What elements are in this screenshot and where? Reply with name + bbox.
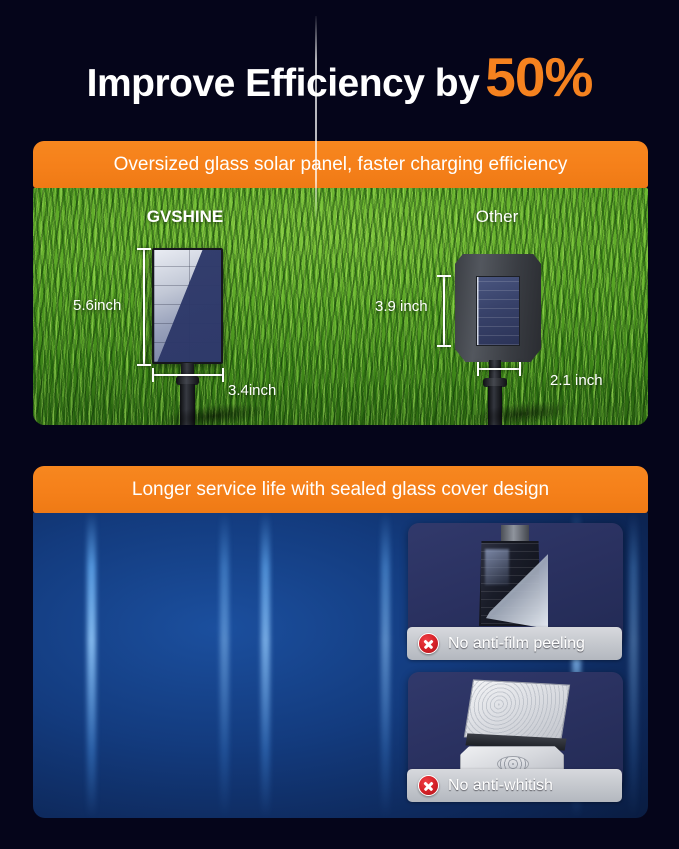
- theirs-height-dimension-label: 3.9 inch: [375, 298, 428, 315]
- ours-width-rule: [152, 374, 224, 376]
- inset-label-row: No anti-film peeling: [407, 627, 622, 660]
- ours-brand-label: GVSHINE: [133, 207, 237, 227]
- grass-background: [33, 188, 648, 425]
- light-streak: [261, 512, 270, 818]
- ours-width-cap-right: [222, 368, 224, 382]
- light-streak: [220, 512, 229, 818]
- inset-card-anti-film-peeling: No anti-film peeling: [408, 523, 623, 648]
- inset-label-text: No anti-whitish: [448, 777, 553, 795]
- theirs-width-rule: [477, 368, 521, 370]
- page-title: Improve Efficiency by50%: [0, 50, 679, 105]
- ours-width-cap-left: [152, 368, 154, 382]
- light-streak: [381, 512, 390, 818]
- comparison-divider: [315, 16, 317, 221]
- headline-accent-text: 50%: [485, 46, 592, 108]
- theirs-solar-panel: [476, 276, 520, 346]
- theirs-brand-label: Other: [455, 207, 539, 227]
- theirs-width-cap-right: [519, 362, 521, 376]
- ours-height-cap-bottom: [137, 364, 151, 366]
- section-1-banner: Oversized glass solar panel, faster char…: [33, 141, 648, 188]
- inset-label-row: No anti-whitish: [407, 769, 622, 802]
- size-comparison-image: [33, 188, 648, 425]
- theirs-stem: [489, 360, 501, 380]
- light-streak: [629, 512, 638, 818]
- theirs-width-dimension-label: 2.1 inch: [550, 372, 603, 389]
- theirs-height-rule: [443, 276, 445, 346]
- ours-height-rule: [143, 249, 145, 365]
- theirs-width-cap-left: [477, 362, 479, 376]
- inset-label-text: No anti-film peeling: [448, 635, 585, 653]
- red-x-icon: [418, 775, 439, 796]
- ours-height-dimension-label: 5.6inch: [73, 297, 121, 314]
- ours-width-dimension-label: 3.4inch: [228, 382, 276, 399]
- ours-height-cap-top: [137, 248, 151, 250]
- red-x-icon: [418, 633, 439, 654]
- light-streak: [87, 512, 96, 818]
- photo-pole: [501, 525, 529, 543]
- section-2-banner: Longer service life with sealed glass co…: [33, 466, 648, 513]
- theirs-height-cap-top: [437, 275, 451, 277]
- inset-card-anti-whitish: No anti-whitish: [408, 672, 623, 790]
- theirs-height-cap-bottom: [437, 345, 451, 347]
- ours-solar-panel: [152, 248, 223, 364]
- headline-main-text: Improve Efficiency by: [87, 62, 480, 105]
